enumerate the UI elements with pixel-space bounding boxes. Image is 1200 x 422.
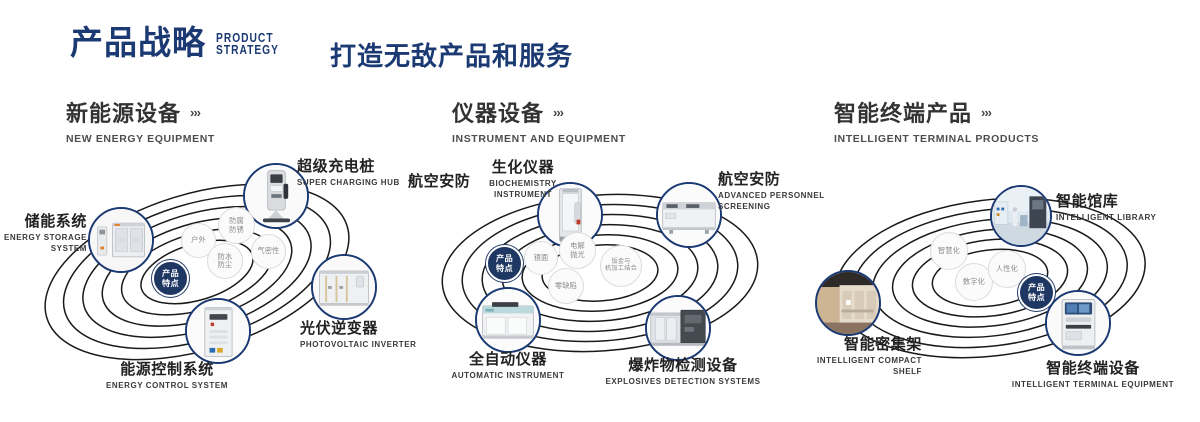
section-title-cn: 智能终端产品 <box>834 96 972 128</box>
explosives-detection-photo <box>647 297 709 359</box>
screening-photo <box>658 184 720 246</box>
node-automatic-instrument[interactable] <box>475 287 541 353</box>
section-title-en: INSTRUMENT AND EQUIPMENT <box>452 133 626 145</box>
node-intelligent-terminal-equipment[interactable] <box>1045 290 1111 356</box>
orbit-cluster-instrument: 镜面 电解抛光 钣金与机加工结合 零缺陷 产品特点 航空安防 生化仪器 BIOC… <box>400 150 800 412</box>
node-intelligent-compact-shelf[interactable] <box>815 270 881 336</box>
node-energy-control-system[interactable] <box>185 298 251 364</box>
section-title-cn: 仪器设备 <box>452 96 544 128</box>
feature-bubble: 智慧化 <box>930 232 968 270</box>
label-energy-storage-system: 储能系统 ENERGY STORAGE SYSTEM <box>0 210 87 255</box>
energy-storage-photo <box>90 209 152 271</box>
orbit-cluster-intelligent-terminal: 智慧化 数字化 人性化 产品特点 智能馆库 INTELLIGENT LIBRAR… <box>800 150 1200 412</box>
node-advanced-personnel-screening[interactable] <box>656 182 722 248</box>
section-header-new-energy: 新能源设备 ››› NEW ENERGY EQUIPMENT <box>66 96 215 145</box>
product-feature-badge: 产品特点 <box>1018 274 1055 311</box>
product-feature-badge: 产品特点 <box>486 245 523 282</box>
page-title: 产品战略 PRODUCT STRATEGY <box>70 26 293 59</box>
node-explosives-detection-systems[interactable] <box>645 295 711 361</box>
feature-bubble: 气密性 <box>251 234 286 269</box>
label-automatic-instrument: 全自动仪器 AUTOMATIC INSTRUMENT <box>428 348 588 382</box>
intelligent-library-photo <box>992 187 1050 245</box>
feature-bubble: 零缺陷 <box>548 268 584 304</box>
product-feature-badge: 产品特点 <box>152 260 189 297</box>
label-explosives-detection-systems: 爆炸物检测设备 EXPLOSIVES DETECTION SYSTEMS <box>598 354 768 388</box>
terminal-equipment-photo <box>1047 292 1109 354</box>
label-intelligent-compact-shelf: 智能密集架 INTELLIGENT COMPACT SHELF <box>790 333 922 378</box>
chevrons-icon: ››› <box>553 105 563 120</box>
orbit-cluster-new-energy: 户外 防腐防锈 防水防尘 气密性 产品特点 储能系统 ENERGY STORAG… <box>0 150 400 412</box>
feature-bubble: 钣金与机加工结合 <box>600 245 642 287</box>
feature-bubble: 电解抛光 <box>559 232 596 269</box>
chevrons-icon: ››› <box>981 105 991 120</box>
node-energy-storage-system[interactable] <box>88 207 154 273</box>
page-title-en-line2: STRATEGY <box>216 44 279 56</box>
label-biochemistry-instrument: 生化仪器 BIOCHEMISTRY INSTRUMENT <box>468 156 578 201</box>
chevrons-icon: ››› <box>190 105 200 120</box>
node-intelligent-library[interactable] <box>990 185 1052 247</box>
label-super-charging-hub: 超级充电桩 SUPER CHARGING HUB <box>297 155 417 189</box>
label-intelligent-library: 智能馆库 INTELLIGENT LIBRARY <box>1056 190 1181 224</box>
feature-bubble: 防水防尘 <box>207 243 243 279</box>
node-photovoltaic-inverter[interactable] <box>311 254 377 320</box>
pv-inverter-photo <box>313 256 375 318</box>
section-title-cn: 新能源设备 <box>66 96 181 128</box>
feature-bubble: 镜面 <box>524 241 558 275</box>
section-title-en: INTELLIGENT TERMINAL PRODUCTS <box>834 133 1039 145</box>
energy-control-photo <box>187 300 249 362</box>
label-intelligent-terminal-equipment: 智能终端设备 INTELLIGENT TERMINAL EQUIPMENT <box>998 357 1188 391</box>
section-header-intelligent-terminal: 智能终端产品 ››› INTELLIGENT TERMINAL PRODUCTS <box>834 96 1039 145</box>
compact-shelf-photo <box>817 272 879 334</box>
page-subtitle: 打造无敌产品和服务 <box>330 36 573 73</box>
section-header-instrument: 仪器设备 ››› INSTRUMENT AND EQUIPMENT <box>452 96 626 145</box>
label-energy-control-system: 能源控制系统 ENERGY CONTROL SYSTEM <box>78 358 256 392</box>
page-title-cn: 产品战略 <box>70 26 206 59</box>
page-title-en: PRODUCT STRATEGY <box>216 32 279 56</box>
feature-bubble: 防腐防锈 <box>218 207 255 244</box>
automatic-instrument-photo <box>477 289 539 351</box>
section-title-en: NEW ENERGY EQUIPMENT <box>66 133 215 145</box>
